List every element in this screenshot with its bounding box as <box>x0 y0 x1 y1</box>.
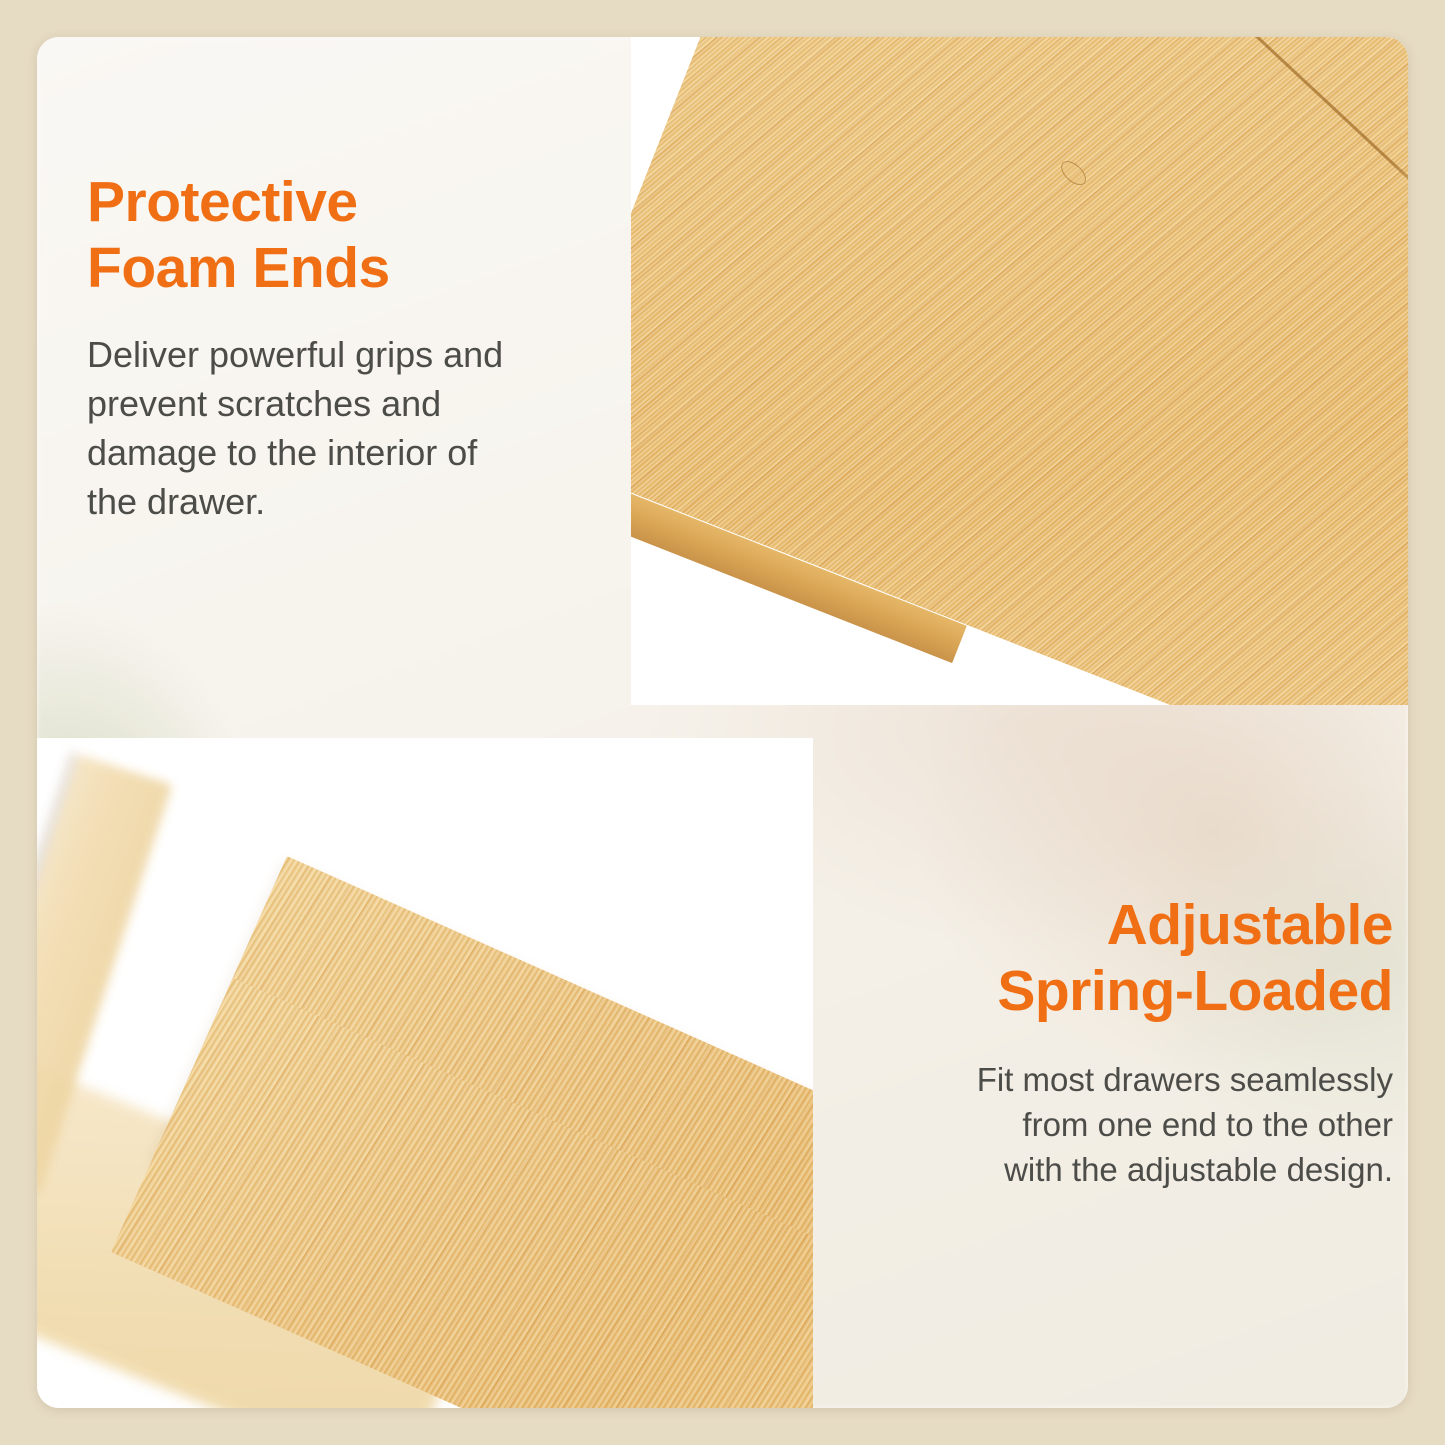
feature-body-foam-ends: Deliver powerful grips and prevent scrat… <box>87 331 602 527</box>
board-seam-line <box>966 37 1408 218</box>
infographic-card: Protective Foam Ends Deliver powerful gr… <box>37 37 1408 1408</box>
product-image-spring-loaded <box>37 738 813 1408</box>
board-screw-hole <box>1057 157 1091 190</box>
feature-title-foam-ends: Protective Foam Ends <box>87 169 602 301</box>
feature-text-spring-loaded: Adjustable Spring-Loaded Fit most drawer… <box>863 892 1393 1193</box>
feature-text-foam-ends: Protective Foam Ends Deliver powerful gr… <box>87 169 602 527</box>
feature-body-spring-loaded: Fit most drawers seamlessly from one end… <box>863 1058 1393 1193</box>
feature-title-spring-loaded: Adjustable Spring-Loaded <box>863 892 1393 1024</box>
board-top-face <box>631 37 1408 705</box>
bamboo-board-illustration <box>631 37 1408 705</box>
product-image-foam-ends <box>631 37 1408 705</box>
